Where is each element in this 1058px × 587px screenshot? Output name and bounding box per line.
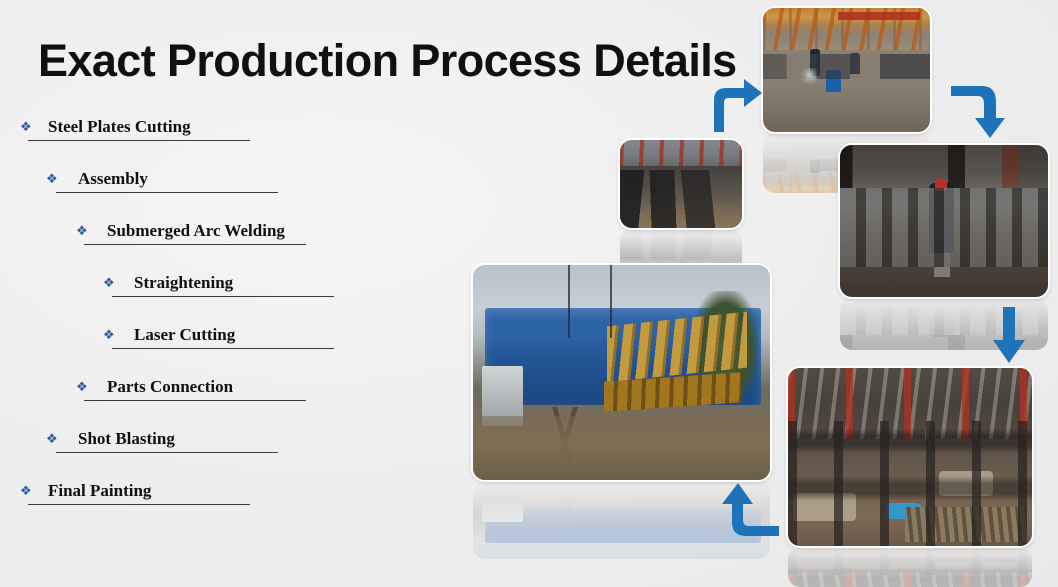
- photo-detail-cart: [826, 70, 841, 92]
- list-item[interactable]: ❖ Straightening: [0, 274, 430, 326]
- photo-reflection: [788, 547, 1032, 587]
- photo-detail-worker: [850, 53, 860, 74]
- list-item[interactable]: ❖ Laser Cutting: [0, 326, 430, 378]
- arrow-elbow-down: [950, 78, 1008, 140]
- slide-canvas: Exact Production Process Details ❖ Steel…: [0, 0, 1058, 587]
- photo-detail-truck-cab: [482, 366, 524, 426]
- process-step-label: Submerged Arc Welding: [107, 220, 285, 242]
- underline-rule: [56, 192, 278, 193]
- process-step-label: Straightening: [134, 272, 233, 294]
- process-step-list: ❖ Steel Plates Cutting ❖ Assembly ❖ Subm…: [0, 118, 430, 534]
- process-step-label: Laser Cutting: [134, 324, 235, 346]
- arrow-right-elbow-up: [708, 78, 764, 134]
- photo-storage-racks: [788, 368, 1032, 546]
- photo-detail-trestle: [532, 407, 597, 463]
- list-item[interactable]: ❖ Assembly: [0, 170, 430, 222]
- photo-detail-worker: [651, 172, 656, 197]
- process-step-label: Final Painting: [48, 480, 151, 502]
- photo-detail-worker: [810, 49, 820, 76]
- underline-rule: [28, 140, 250, 141]
- diamond-bullet-icon: ❖: [46, 430, 58, 450]
- photo-beam-inspection: [840, 145, 1048, 297]
- process-step-label: Assembly: [78, 168, 148, 190]
- underline-rule: [28, 504, 250, 505]
- photo-detail-worker-legs: [934, 244, 951, 277]
- photo-loaded-truck: [473, 265, 770, 480]
- arrow-down: [992, 306, 1026, 364]
- diamond-bullet-icon: ❖: [46, 170, 58, 190]
- photo-detail-steel-bars: [905, 507, 1027, 543]
- underline-rule: [112, 296, 334, 297]
- underline-rule: [112, 348, 334, 349]
- underline-rule: [56, 452, 278, 453]
- photo-detail-cable: [610, 265, 612, 338]
- photo-detail-sparks: [800, 68, 820, 85]
- photo-image: [840, 145, 1048, 297]
- photo-detail-tarp: [939, 471, 993, 496]
- diamond-bullet-icon: ❖: [76, 222, 88, 242]
- diamond-bullet-icon: ❖: [103, 274, 115, 294]
- photo-detail-beam: [852, 221, 1039, 264]
- list-item[interactable]: ❖ Final Painting: [0, 482, 430, 534]
- photo-detail-blue-cover: [886, 503, 923, 519]
- diamond-bullet-icon: ❖: [20, 482, 32, 502]
- arrow-elbow-up-left: [718, 482, 780, 538]
- underline-rule: [84, 400, 306, 401]
- photo-detail-banner: [838, 12, 920, 21]
- photo-detail-worker: [929, 183, 954, 253]
- photo-welding-workshop: [763, 8, 930, 132]
- photo-image: [620, 140, 742, 228]
- list-item[interactable]: ❖ Submerged Arc Welding: [0, 222, 430, 274]
- photo-detail-tarp: [793, 493, 856, 521]
- diamond-bullet-icon: ❖: [76, 378, 88, 398]
- photo-steel-plates: [620, 140, 742, 228]
- photo-image: [788, 368, 1032, 546]
- list-item[interactable]: ❖ Steel Plates Cutting: [0, 118, 430, 170]
- photo-image: [473, 265, 770, 480]
- underline-rule: [84, 244, 306, 245]
- photo-detail-red-cap: [935, 178, 947, 190]
- photo-image: [763, 8, 930, 132]
- diamond-bullet-icon: ❖: [103, 326, 115, 346]
- list-item[interactable]: ❖ Parts Connection: [0, 378, 430, 430]
- diamond-bullet-icon: ❖: [20, 118, 32, 138]
- process-step-label: Steel Plates Cutting: [48, 116, 191, 138]
- process-step-label: Shot Blasting: [78, 428, 175, 450]
- process-step-label: Parts Connection: [107, 376, 233, 398]
- page-title: Exact Production Process Details: [38, 38, 737, 83]
- photo-detail-cable: [568, 265, 570, 338]
- list-item[interactable]: ❖ Shot Blasting: [0, 430, 430, 482]
